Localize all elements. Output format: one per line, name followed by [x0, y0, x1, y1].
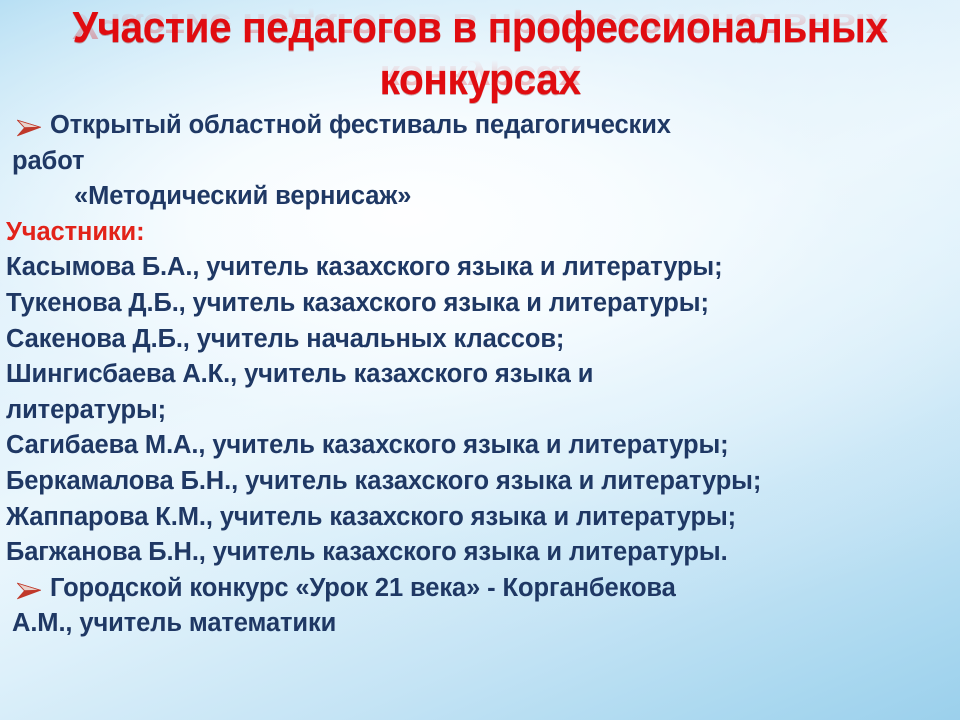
body-line: литературы;	[6, 393, 954, 429]
body-line: Тукенова Д.Б., учитель казахского языка …	[6, 286, 954, 322]
bullet-text: Городской конкурс «Урок 21 века» - Корга…	[50, 571, 676, 607]
body-line: «Методический вернисаж»	[6, 179, 954, 215]
body-line: Шингисбаева А.К., учитель казахского язы…	[6, 357, 954, 393]
bullet-line: Открытый областной фестиваль педагогичес…	[6, 108, 954, 144]
arrowhead-bullet-icon	[16, 571, 50, 600]
slide-title: Участие педагогов в профессиональных Уча…	[0, 4, 960, 108]
bullet-text: Открытый областной фестиваль педагогичес…	[50, 108, 671, 144]
body-line: работ	[6, 144, 954, 180]
title-line-1: Участие педагогов в профессиональных	[34, 4, 927, 52]
body-line: Жаппарова К.М., учитель казахского языка…	[6, 500, 954, 536]
bullet-line: Городской конкурс «Урок 21 века» - Корга…	[6, 571, 954, 607]
body-line: Сагибаева М.А., учитель казахского языка…	[6, 428, 954, 464]
body-line: А.М., учитель математики	[6, 606, 954, 642]
participants-heading: Участники:	[6, 215, 954, 251]
body-line: Касымова Б.А., учитель казахского языка …	[6, 250, 954, 286]
presentation-slide: Участие педагогов в профессиональных Уча…	[0, 0, 960, 720]
slide-body: Открытый областной фестиваль педагогичес…	[0, 108, 960, 642]
body-line: Багжанова Б.Н., учитель казахского языка…	[6, 535, 954, 571]
title-line-2-wrap: конкурсах конкурсах	[0, 56, 960, 108]
arrowhead-bullet-icon	[16, 108, 50, 137]
title-line-1-wrap: Участие педагогов в профессиональных Уча…	[0, 4, 960, 56]
body-line: Сакенова Д.Б., учитель начальных классов…	[6, 322, 954, 358]
body-line: Беркамалова Б.Н., учитель казахского язы…	[6, 464, 954, 500]
title-line-2: конкурсах	[34, 56, 927, 104]
